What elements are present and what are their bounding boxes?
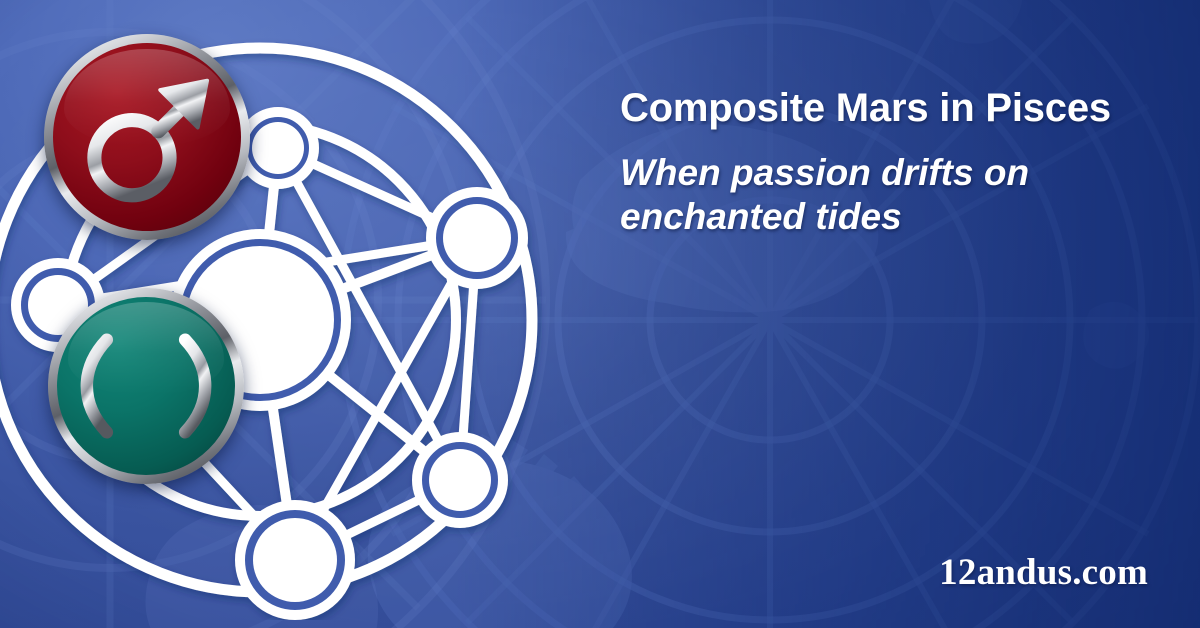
page-subtitle: When passion drifts on enchanted tides — [620, 151, 1160, 240]
page-title: Composite Mars in Pisces — [620, 86, 1160, 131]
badge-pisces — [48, 288, 244, 484]
copy-block: Composite Mars in Pisces When passion dr… — [620, 86, 1160, 240]
banner: Composite Mars in Pisces When passion dr… — [0, 0, 1200, 628]
brand-logo[interactable]: 12andus.com — [939, 551, 1148, 594]
mars-symbol-icon — [53, 43, 241, 231]
badge-mars — [44, 34, 250, 240]
pisces-symbol-icon — [57, 297, 235, 475]
